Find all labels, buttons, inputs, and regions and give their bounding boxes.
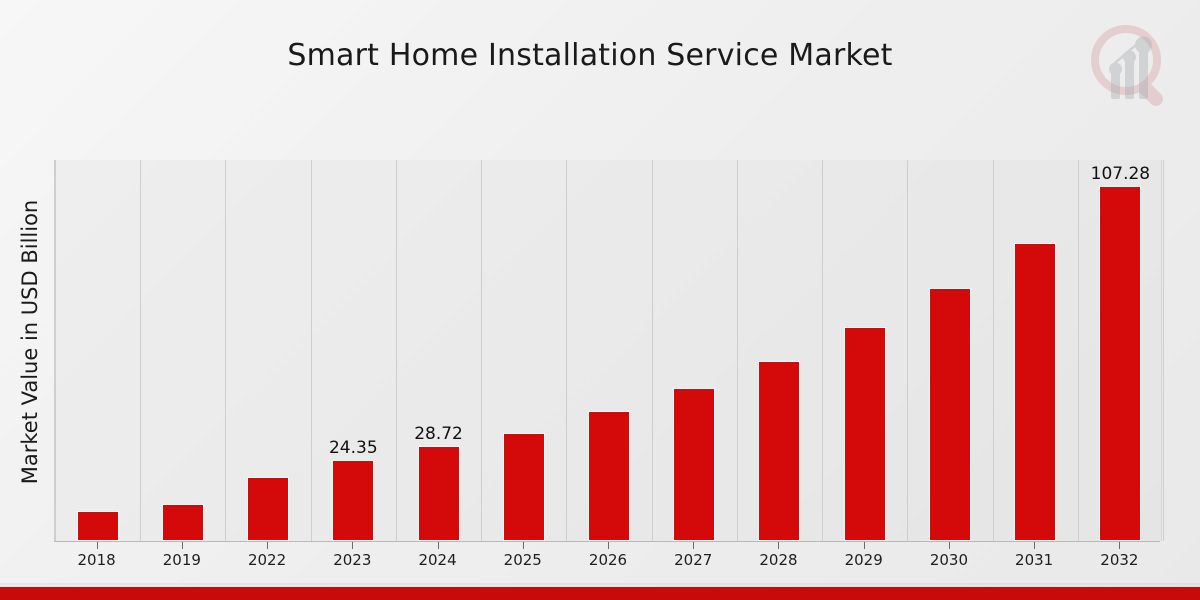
x-tick	[949, 542, 950, 549]
x-tick	[182, 542, 183, 549]
bar-slot	[907, 160, 992, 541]
bar-2019[interactable]	[162, 504, 204, 541]
bar-slot	[225, 160, 310, 541]
x-tick-label-2018: 2018	[78, 551, 116, 569]
bar-slot	[566, 160, 651, 541]
x-tick	[438, 542, 439, 549]
bottom-accent-strip	[0, 587, 1200, 600]
bar-2032[interactable]: 107.28	[1099, 186, 1141, 541]
bar-series: 24.3528.72107.28	[55, 160, 1161, 541]
bar-2029[interactable]	[844, 327, 886, 541]
bar-2022[interactable]	[247, 477, 289, 541]
x-tick	[1119, 542, 1120, 549]
x-tick	[693, 542, 694, 549]
x-tick	[778, 542, 779, 549]
x-tick-label-2029: 2029	[845, 551, 883, 569]
bar-2028[interactable]	[758, 361, 800, 541]
bar-slot	[55, 160, 140, 541]
x-tick	[97, 542, 98, 549]
plot-area: 24.3528.72107.28	[54, 160, 1162, 541]
x-tick-label-2024: 2024	[418, 551, 456, 569]
x-tick	[608, 542, 609, 549]
x-tick-label-2023: 2023	[333, 551, 371, 569]
market-research-magnifier-bar-logo-icon	[1078, 14, 1182, 118]
x-tick	[267, 542, 268, 549]
bar-value-label: 107.28	[1091, 164, 1150, 184]
page-title: Smart Home Installation Service Market	[0, 38, 1180, 73]
x-axis-line	[54, 541, 1160, 542]
x-tick-label-2019: 2019	[163, 551, 201, 569]
x-tick-label-2025: 2025	[504, 551, 542, 569]
x-tick	[352, 542, 353, 549]
chart-header: Smart Home Installation Service Market	[0, 0, 1200, 140]
gridline	[1163, 160, 1164, 541]
bar-slot: 28.72	[396, 160, 481, 541]
bar-2024[interactable]: 28.72	[418, 446, 460, 541]
x-tick	[864, 542, 865, 549]
bar-value-label: 28.72	[414, 424, 463, 444]
bar-slot: 107.28	[1078, 160, 1163, 541]
bar-2023[interactable]: 24.35	[332, 460, 374, 541]
x-tick-label-2027: 2027	[674, 551, 712, 569]
bar-2031[interactable]	[1014, 243, 1056, 541]
x-tick-label-2022: 2022	[248, 551, 286, 569]
x-tick	[1034, 542, 1035, 549]
x-tick-label-2030: 2030	[930, 551, 968, 569]
bar-slot	[737, 160, 822, 541]
bar-slot	[822, 160, 907, 541]
bar-slot	[993, 160, 1078, 541]
chart-page: Smart Home Installation Service Market	[0, 0, 1200, 600]
bar-slot	[140, 160, 225, 541]
x-tick-label-2031: 2031	[1015, 551, 1053, 569]
x-tick-label-2032: 2032	[1100, 551, 1138, 569]
bar-2018[interactable]	[77, 511, 119, 541]
bar-slot: 24.35	[311, 160, 396, 541]
bar-2027[interactable]	[673, 388, 715, 541]
bar-slot	[481, 160, 566, 541]
y-axis-title: Market Value in USD Billion	[18, 162, 42, 522]
bar-2026[interactable]	[588, 411, 630, 541]
x-tick-label-2026: 2026	[589, 551, 627, 569]
bar-slot	[652, 160, 737, 541]
bar-2025[interactable]	[503, 433, 545, 541]
x-tick-label-2028: 2028	[759, 551, 797, 569]
bar-2030[interactable]	[929, 288, 971, 541]
x-tick	[523, 542, 524, 549]
bar-value-label: 24.35	[329, 438, 378, 458]
